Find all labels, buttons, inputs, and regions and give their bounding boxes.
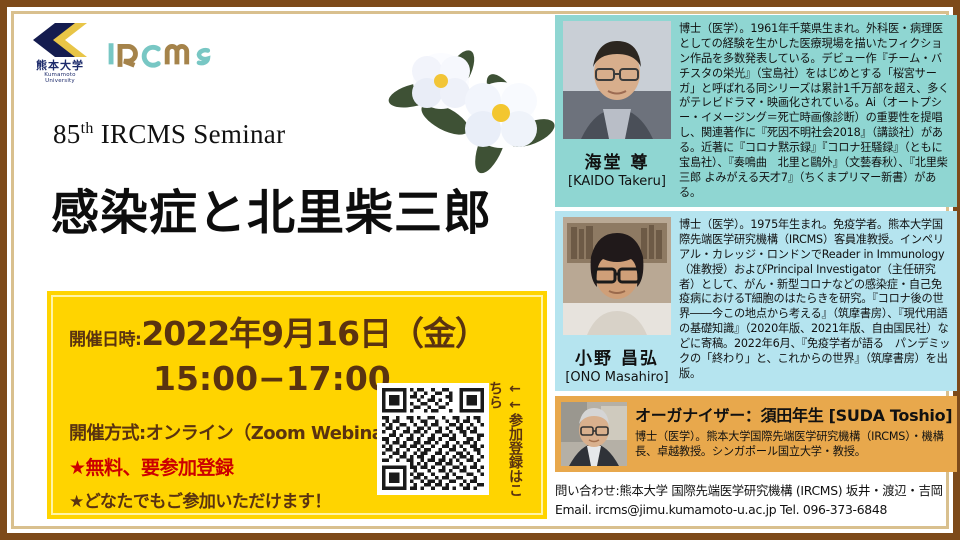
speaker-identity: 小野 昌弘 [ONO Masahiro] — [561, 217, 673, 385]
speaker-name-en: [KAIDO Takeru] — [568, 174, 666, 189]
speaker-photo-kaido — [563, 21, 671, 139]
speaker-card: 海堂 尊 [KAIDO Takeru] 博士（医学）。1961年千葉県生まれ。外… — [555, 15, 957, 207]
seminar-number-suffix: th — [81, 120, 94, 137]
speaker-bio: 博士（医学）。1975年生まれ。免疫学者。熊本大学国際先端医学研究機構（IRCM… — [679, 217, 951, 385]
contact-line-2: Email. ircms@jimu.kumamoto-u.ac.jp Tel. … — [555, 501, 957, 520]
event-format-line: 開催方式:オンライン（Zoom Webinar） — [69, 419, 409, 445]
speaker-card: 小野 昌弘 [ONO Masahiro] 博士（医学）。1975年生まれ。免疫学… — [555, 211, 957, 391]
kumamoto-university-logo: 熊本大学 Kumamoto University — [29, 21, 91, 84]
organizer-text: オーガナイザー：須田年生 [SUDA Toshio] 博士（医学）。熊本大学国際… — [635, 402, 952, 466]
speaker-name-ja: 小野 昌弘 — [575, 344, 659, 369]
speaker-name-ja: 海堂 尊 — [585, 148, 650, 173]
contact-footer: 問い合わせ:熊本大学 国際先端医学研究機構 (IRCMS) 坂井・渡辺・吉岡 E… — [555, 482, 957, 519]
kumamoto-university-name-en: Kumamoto University — [29, 72, 91, 84]
event-date-row: 開催日時: 2022年9月16日（金） — [69, 307, 487, 355]
event-fee-line: ★無料、要参加登録 — [69, 453, 234, 480]
right-column: 海堂 尊 [KAIDO Takeru] 博士（医学）。1961年千葉県生まれ。外… — [555, 15, 957, 539]
seminar-number-heading: 85th IRCMS Seminar — [53, 119, 285, 150]
speaker-photo-ono — [563, 217, 671, 335]
speaker-identity: 海堂 尊 [KAIDO Takeru] — [561, 21, 673, 201]
qr-code-registration-icon[interactable] — [377, 383, 489, 495]
event-time-value: 15:00−17:00 — [153, 359, 391, 398]
event-open-line: ★どなたでもご参加いただけます！ — [69, 487, 331, 512]
organizer-bio: 博士（医学）。熊本大学国際先端医学研究機構（IRCMS）・機構長、卓越教授。シン… — [635, 429, 952, 459]
seminar-poster: 熊本大学 Kumamoto University 85th IRCMS Semi… — [0, 0, 960, 540]
speaker-bio: 博士（医学）。1961年千葉県生まれ。外科医・病理医としての経験を生かした医療現… — [679, 21, 951, 201]
organizer-photo-suda — [561, 402, 627, 466]
organizer-card: オーガナイザー：須田年生 [SUDA Toshio] 博士（医学）。熊本大学国際… — [555, 396, 957, 472]
kumamoto-university-name-ja: 熊本大学 — [29, 60, 91, 72]
camellia-flower-icon — [383, 27, 573, 177]
seminar-number: 85 — [53, 119, 81, 149]
event-details-inner: 開催日時: 2022年9月16日（金） 15:00−17:00 開催方式:オンラ… — [51, 295, 543, 515]
event-date-label: 開催日時: — [69, 325, 141, 350]
speaker-name-en: [ONO Masahiro] — [565, 370, 668, 385]
seminar-title-en: IRCMS Seminar — [101, 119, 286, 149]
qr-registration-caption: ←←参加登録はこちら — [485, 381, 525, 501]
contact-line-1: 問い合わせ:熊本大学 国際先端医学研究機構 (IRCMS) 坂井・渡辺・吉岡 — [555, 482, 957, 501]
logo-row: 熊本大学 Kumamoto University — [29, 21, 229, 84]
page-title: 感染症と北里柴三郎 — [51, 173, 492, 243]
left-column: 熊本大学 Kumamoto University 85th IRCMS Semi… — [21, 15, 551, 531]
event-date-value: 2022年9月16日（金） — [141, 307, 487, 355]
kumamoto-chevron-icon — [33, 21, 87, 59]
event-details-box: 開催日時: 2022年9月16日（金） 15:00−17:00 開催方式:オンラ… — [47, 291, 547, 519]
ircms-logo — [107, 32, 229, 72]
organizer-title: オーガナイザー：須田年生 [SUDA Toshio] — [635, 402, 952, 426]
